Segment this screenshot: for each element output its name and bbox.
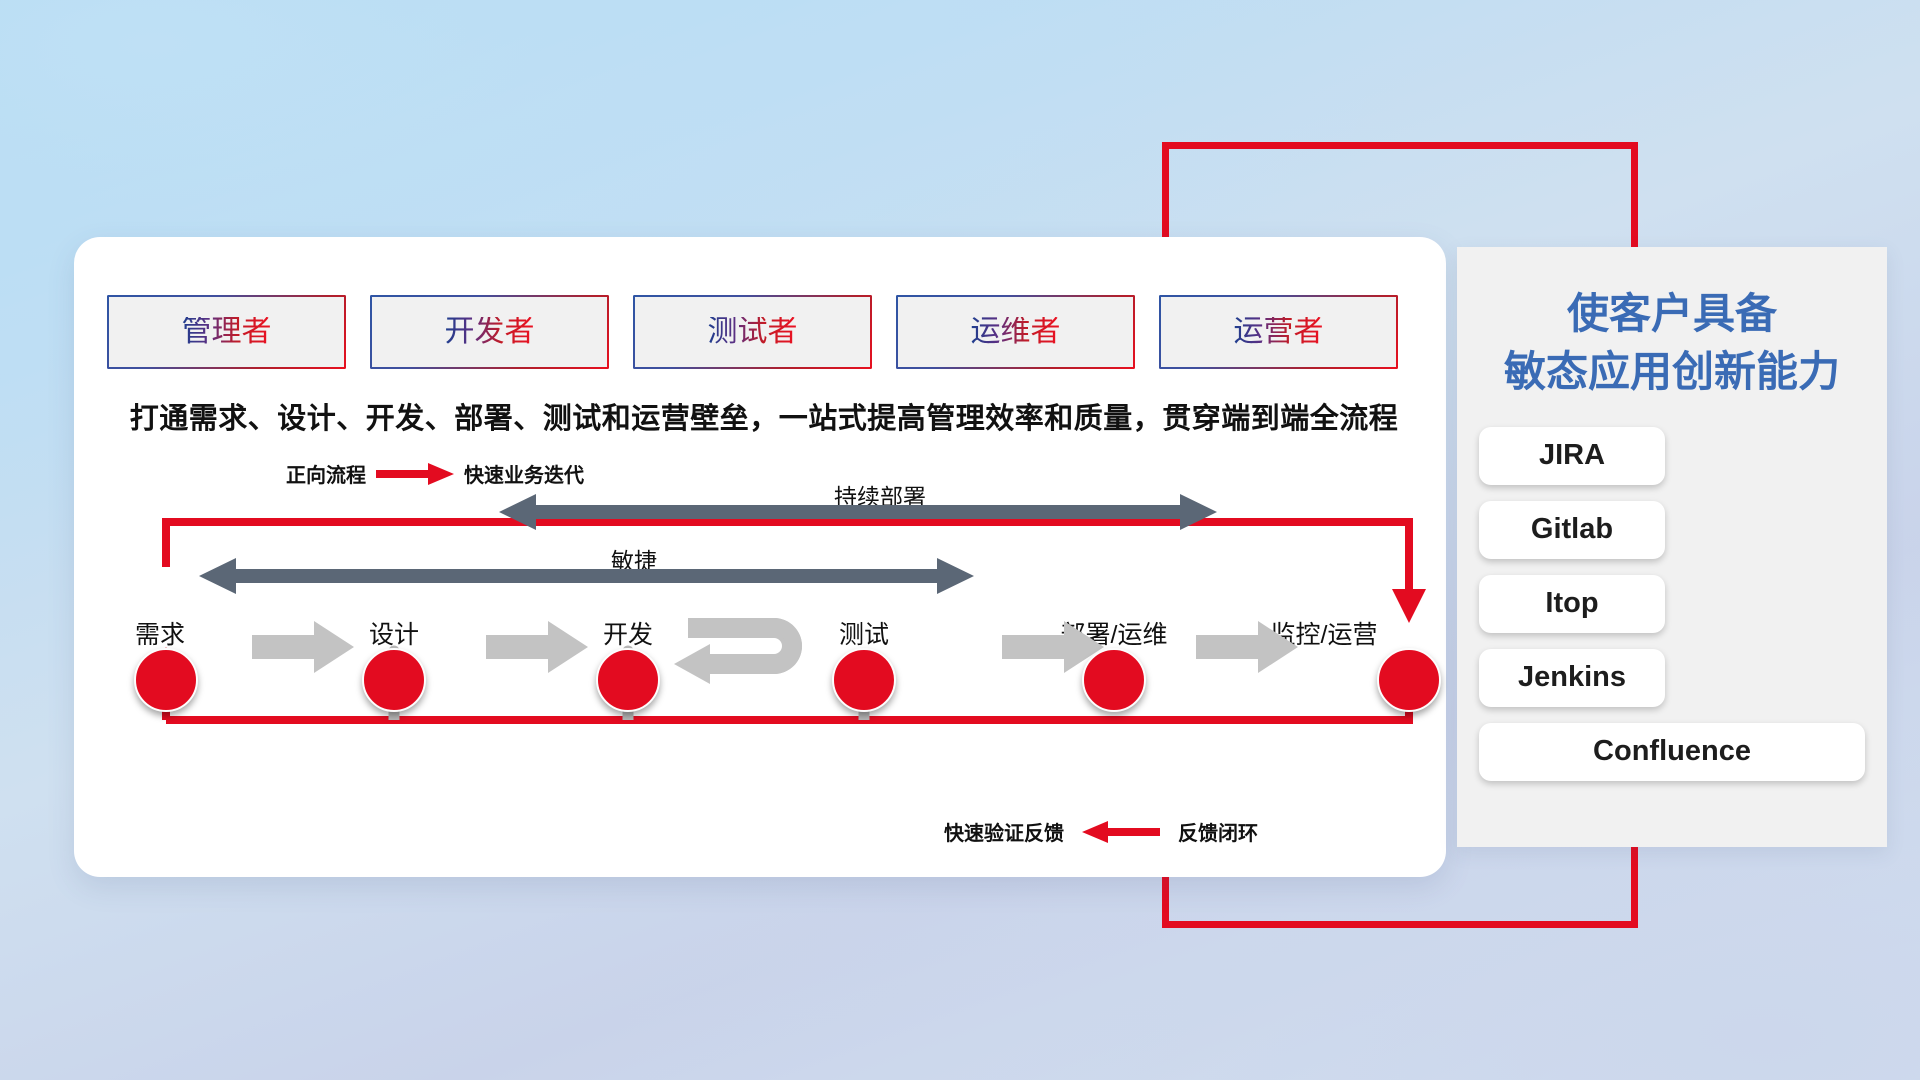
- tool-button-confluence[interactable]: Confluence: [1479, 723, 1865, 781]
- panel-title-line2: 敏态应用创新能力: [1457, 343, 1887, 401]
- stage-circle-development[interactable]: [596, 648, 660, 712]
- stage-circle-requirement[interactable]: [134, 648, 198, 712]
- capability-panel: 使客户具备 敏态应用创新能力 JIRA Gitlab Itop Jenkins …: [1457, 247, 1887, 847]
- tool-button-jira[interactable]: JIRA: [1479, 427, 1665, 485]
- main-card: 管理者 开发者 测试者 运维者 运营者 打通需求、设计、开发、部署、测试和运营壁…: [74, 237, 1446, 877]
- tool-list: JIRA Gitlab Itop Jenkins Confluence: [1457, 427, 1887, 781]
- panel-title: 使客户具备 敏态应用创新能力: [1457, 285, 1887, 401]
- stage-circle-deploy-ops[interactable]: [1082, 648, 1146, 712]
- dev-test-loopback-arrow: [674, 618, 802, 684]
- tool-button-jenkins[interactable]: Jenkins: [1479, 649, 1665, 707]
- tool-button-itop[interactable]: Itop: [1479, 575, 1665, 633]
- flow-diagram-svg: [74, 237, 1446, 877]
- red-pipeline-loop: [149, 522, 1426, 720]
- panel-title-line1: 使客户具备: [1457, 285, 1887, 343]
- tool-button-gitlab[interactable]: Gitlab: [1479, 501, 1665, 559]
- stage-circle-monitor-run[interactable]: [1377, 648, 1441, 712]
- stage-circle-testing[interactable]: [832, 648, 896, 712]
- stage-circle-design[interactable]: [362, 648, 426, 712]
- agile-double-arrow: [199, 558, 974, 594]
